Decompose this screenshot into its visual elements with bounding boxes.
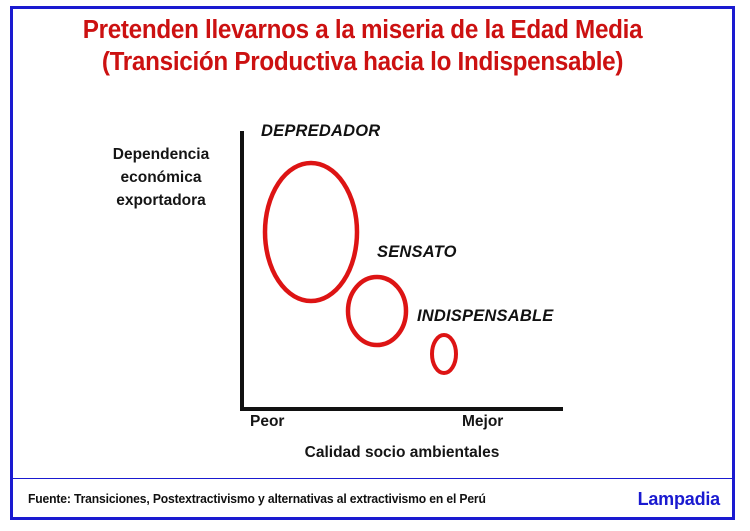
- x-axis-label: Calidad socio ambientales: [241, 444, 563, 462]
- bubble-label-indispensable: INDISPENSABLE: [417, 307, 553, 326]
- page-title: Pretenden llevarnos a la miseria de la E…: [14, 14, 711, 78]
- bubble-label-sensato: SENSATO: [377, 243, 457, 262]
- y-axis-label-line-3: exportadora: [96, 189, 226, 212]
- y-axis-label-line-1: Dependencia: [96, 143, 226, 166]
- footer-divider: [13, 478, 732, 479]
- x-tick-label-right: Mejor: [462, 413, 503, 431]
- footer-source-text: Fuente: Transiciones, Postextractivismo …: [28, 492, 486, 506]
- footer-bar: Fuente: Transiciones, Postextractivismo …: [13, 482, 732, 516]
- x-tick-label-left: Peor: [250, 413, 284, 431]
- y-axis-label: Dependencia económica exportadora: [96, 143, 226, 212]
- title-line-1: Pretenden llevarnos a la miseria de la E…: [31, 14, 693, 46]
- slide-canvas: Pretenden llevarnos a la miseria de la E…: [0, 0, 750, 531]
- bubble-label-depredador: DEPREDADOR: [261, 122, 380, 141]
- slide-border-frame: [10, 6, 735, 520]
- footer-brand-logo: Lampadia: [638, 489, 720, 510]
- y-axis-label-line-2: económica: [96, 166, 226, 189]
- title-line-2: (Transición Productiva hacia lo Indispen…: [31, 46, 693, 78]
